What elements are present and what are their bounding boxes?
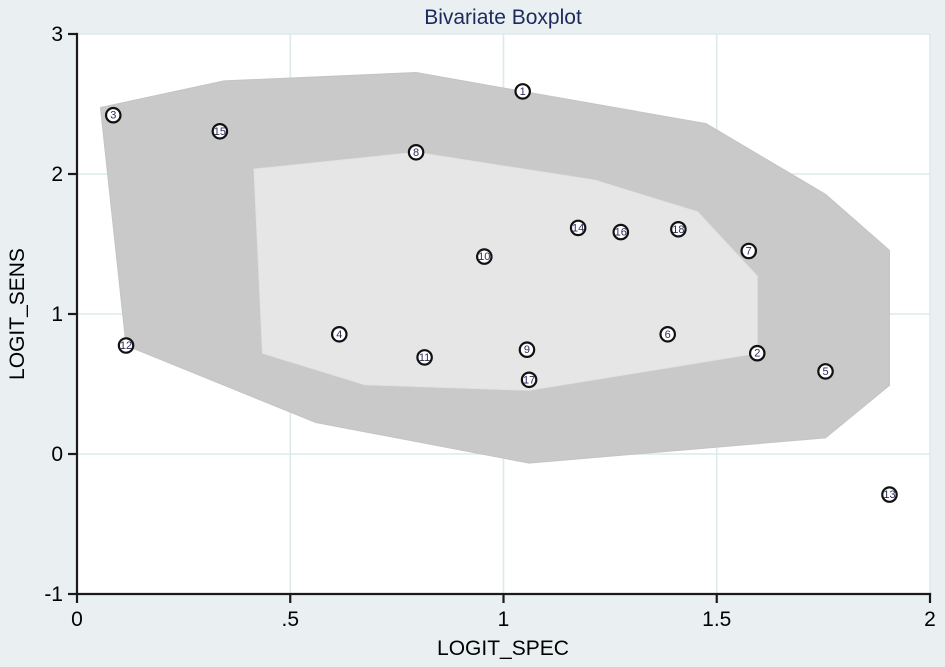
marker-label: 9 bbox=[524, 344, 530, 356]
marker-label: 5 bbox=[822, 366, 828, 378]
x-tick-label: 1 bbox=[498, 608, 510, 631]
marker-label: 10 bbox=[478, 251, 490, 263]
bivariate-boxplot-chart: 0.511.52 -10123 123456789101112131415161… bbox=[0, 0, 945, 667]
data-point-marker: 15 bbox=[213, 124, 227, 138]
marker-label: 11 bbox=[419, 352, 430, 364]
marker-label: 8 bbox=[413, 147, 419, 159]
marker-label: 18 bbox=[672, 224, 684, 236]
data-point-marker: 7 bbox=[742, 244, 756, 258]
marker-label: 2 bbox=[754, 348, 760, 360]
data-point-marker: 8 bbox=[409, 145, 423, 159]
data-point-marker: 14 bbox=[571, 221, 585, 235]
marker-label: 12 bbox=[120, 340, 132, 352]
x-tick-label: .5 bbox=[281, 608, 299, 631]
y-tick-label: 1 bbox=[51, 303, 63, 326]
marker-label: 7 bbox=[746, 246, 752, 258]
x-tick-label: 2 bbox=[924, 608, 936, 631]
marker-label: 6 bbox=[665, 329, 671, 341]
y-tick-label: 2 bbox=[51, 163, 63, 186]
data-point-marker: 4 bbox=[332, 327, 346, 341]
x-axis-title: LOGIT_SPEC bbox=[437, 637, 569, 660]
data-point-marker: 9 bbox=[520, 343, 534, 357]
data-point-marker: 11 bbox=[417, 350, 431, 364]
marker-label: 1 bbox=[520, 86, 526, 98]
data-point-marker: 2 bbox=[750, 346, 764, 360]
x-axis-ticks: 0.511.52 bbox=[71, 594, 936, 631]
y-tick-label: -1 bbox=[44, 583, 63, 606]
chart-canvas: 0.511.52 -10123 123456789101112131415161… bbox=[0, 0, 945, 667]
y-axis-ticks: -10123 bbox=[44, 23, 77, 606]
data-point-marker: 12 bbox=[119, 338, 133, 352]
data-point-marker: 6 bbox=[661, 327, 675, 341]
marker-label: 13 bbox=[883, 489, 895, 501]
marker-label: 17 bbox=[523, 374, 535, 386]
marker-label: 15 bbox=[214, 126, 226, 138]
data-point-marker: 16 bbox=[614, 225, 628, 239]
y-tick-label: 3 bbox=[51, 23, 63, 46]
data-point-marker: 17 bbox=[522, 373, 536, 387]
data-point-marker: 1 bbox=[515, 84, 529, 98]
marker-label: 3 bbox=[110, 110, 116, 122]
x-tick-label: 0 bbox=[71, 608, 83, 631]
data-point-marker: 5 bbox=[818, 364, 832, 378]
chart-title: Bivariate Boxplot bbox=[424, 6, 582, 29]
marker-label: 14 bbox=[572, 222, 584, 234]
y-axis-title: LOGIT_SENS bbox=[6, 248, 29, 380]
marker-label: 4 bbox=[336, 329, 342, 341]
data-point-marker: 13 bbox=[882, 487, 896, 501]
y-tick-label: 0 bbox=[51, 443, 63, 466]
x-tick-label: 1.5 bbox=[702, 608, 731, 631]
marker-label: 16 bbox=[615, 227, 627, 239]
data-point-marker: 18 bbox=[671, 222, 685, 236]
data-point-marker: 10 bbox=[477, 249, 491, 263]
data-point-marker: 3 bbox=[106, 108, 120, 122]
